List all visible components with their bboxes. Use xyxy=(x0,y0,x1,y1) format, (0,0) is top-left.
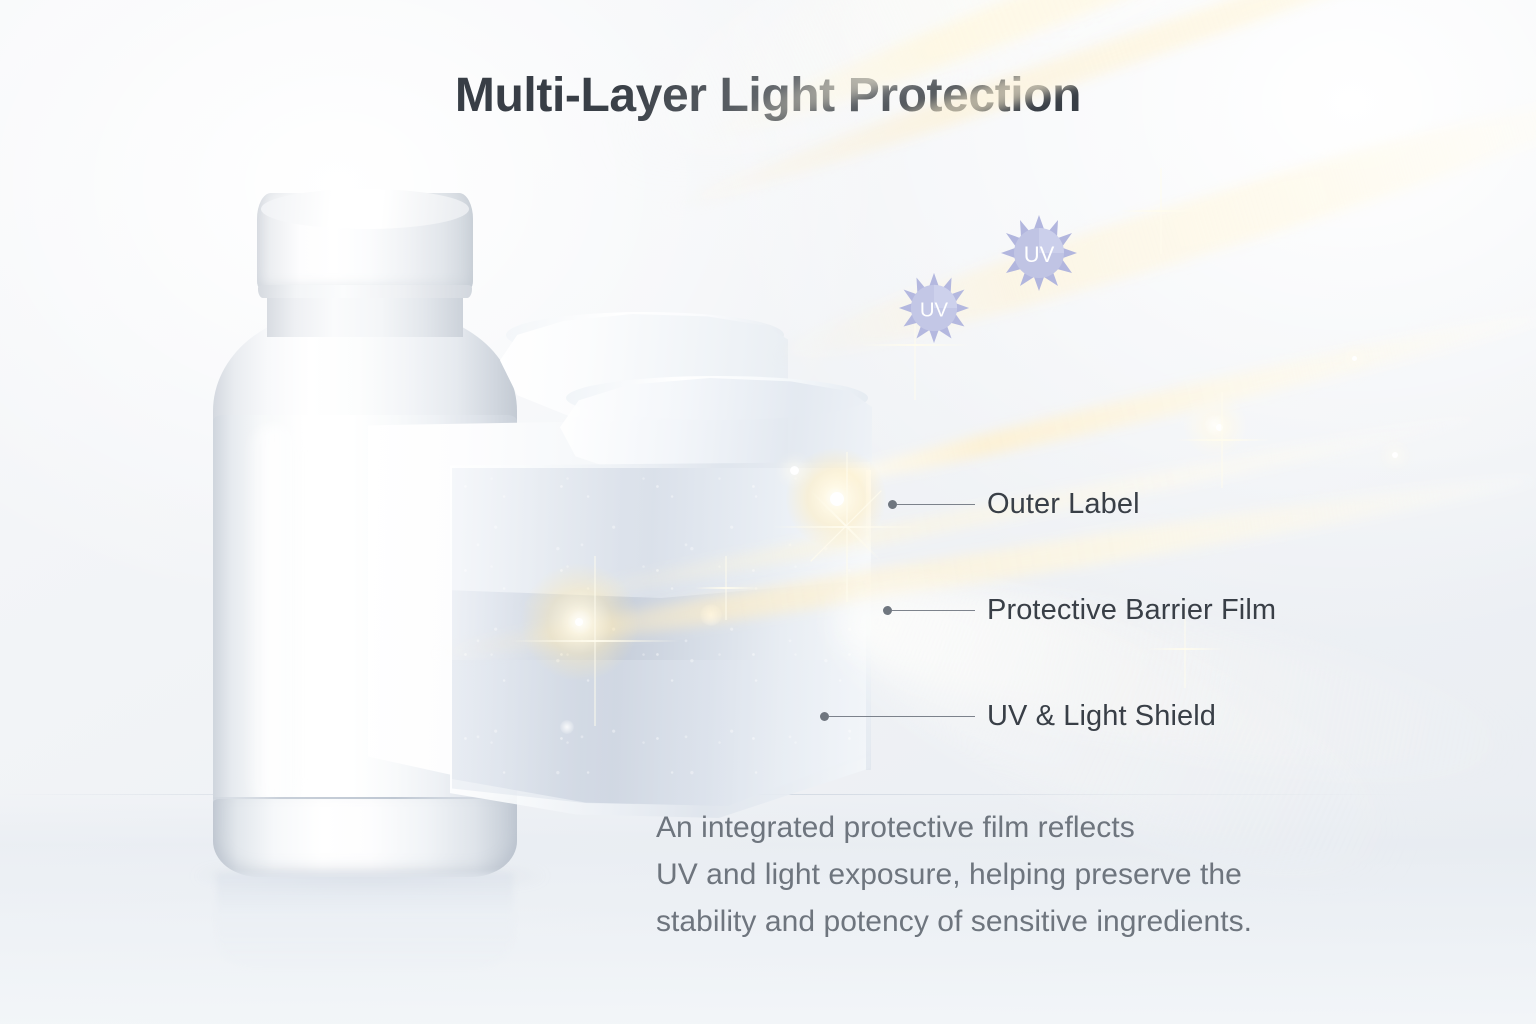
bottle-highlight xyxy=(245,425,305,805)
callout-leader-line xyxy=(829,716,975,718)
callout-anchor-dot xyxy=(883,606,892,615)
callout-leader-line xyxy=(897,504,975,506)
callout-uv-light-shield[interactable]: UV & Light Shield xyxy=(820,700,1216,733)
light-bead xyxy=(1216,424,1223,431)
callout-outer-label[interactable]: Outer Label xyxy=(888,488,1140,521)
film-texture-grain xyxy=(452,468,870,806)
light-bead xyxy=(1352,356,1357,361)
bottle-reflection xyxy=(217,873,513,969)
film-sparkle-dot xyxy=(560,720,574,734)
callout-label-text: Protective Barrier Film xyxy=(987,594,1276,627)
lens-flare xyxy=(1180,390,1250,460)
sparkle-star xyxy=(1118,168,1204,254)
bottle-cap-top xyxy=(261,189,469,229)
callout-label-text: Outer Label xyxy=(987,488,1140,521)
sparkle-star xyxy=(1174,392,1270,488)
bottle-cap-ring xyxy=(258,285,472,298)
uv-virus-icon-lower: UV xyxy=(898,272,970,344)
description-block: An integrated protective film reflects U… xyxy=(656,804,1252,945)
callout-label-text: UV & Light Shield xyxy=(987,700,1216,733)
description-line-1: An integrated protective film reflects xyxy=(656,804,1252,851)
description-line-2: UV and light exposure, helping preserve … xyxy=(656,851,1252,898)
light-bead xyxy=(1392,452,1398,458)
bottle-neck xyxy=(267,295,463,337)
uv-icon-label: UV xyxy=(920,299,949,321)
infographic-canvas: Multi-Layer Light Protection xyxy=(0,0,1536,1024)
bottle-base xyxy=(213,799,517,877)
callout-anchor-dot xyxy=(820,712,829,721)
uv-virus-icon-upper: UV xyxy=(1000,214,1078,292)
uv-icon-label: UV xyxy=(1024,242,1055,267)
film-sparkle-dot xyxy=(700,604,722,626)
callout-anchor-dot xyxy=(888,500,897,509)
callout-leader-line xyxy=(892,610,975,612)
description-line-3: stability and potency of sensitive ingre… xyxy=(656,898,1252,945)
page-title: Multi-Layer Light Protection xyxy=(0,68,1536,123)
callout-protective-barrier-film[interactable]: Protective Barrier Film xyxy=(883,594,1276,627)
